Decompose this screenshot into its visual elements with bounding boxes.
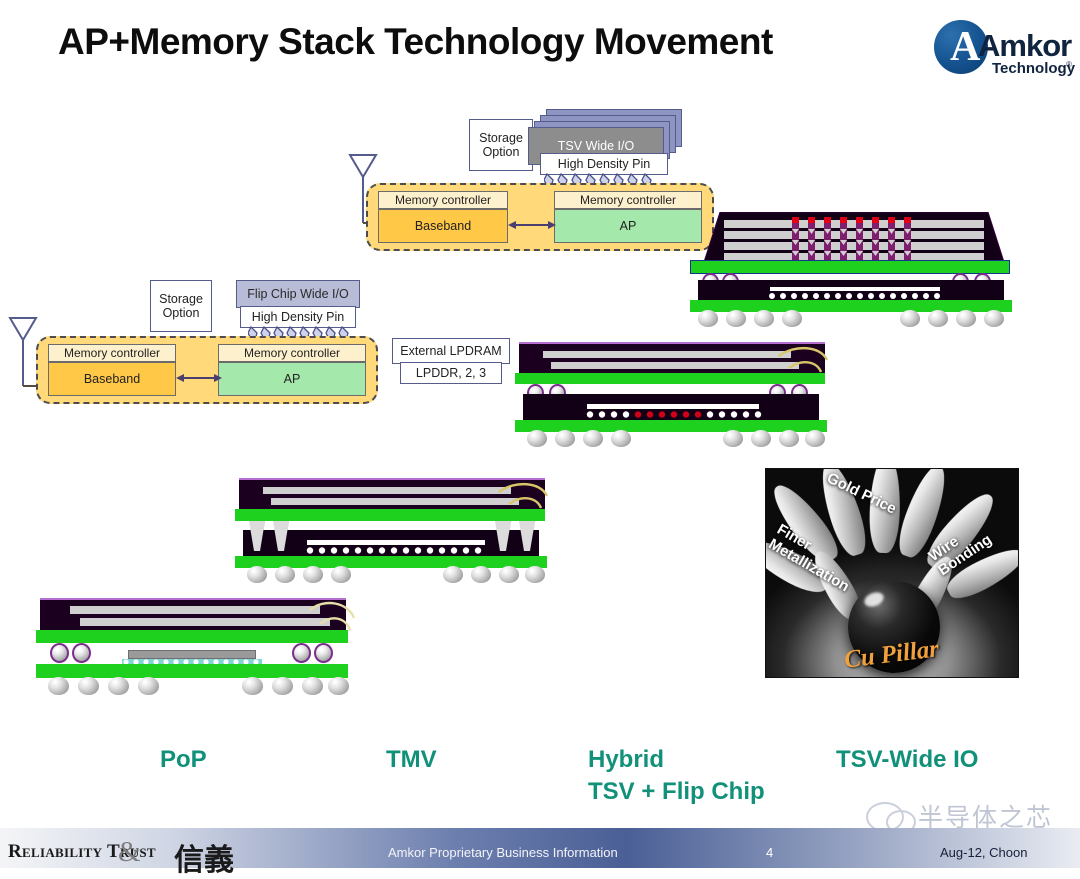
ampersand-glyph: & — [118, 836, 141, 869]
bottom-die — [770, 287, 940, 291]
ap-block-mid: AP — [218, 362, 366, 396]
bga-ball — [698, 310, 718, 327]
top-substrate — [235, 509, 545, 521]
wirebond-die-lower — [80, 618, 330, 626]
bga-ball — [754, 310, 774, 327]
top-package-substrate — [690, 260, 1010, 274]
bga-ball — [328, 677, 349, 695]
bga-ball — [900, 310, 920, 327]
flip-chip-wide-io-box: Flip Chip Wide I/O — [236, 280, 360, 308]
bga-ball — [48, 677, 69, 695]
ap-memory-controller-mid: Memory controller — [218, 344, 366, 362]
bga-ball — [779, 430, 799, 447]
pop-interconnect-ball — [292, 643, 311, 663]
bga-ball — [247, 566, 267, 583]
tmv-bump-row — [305, 546, 489, 555]
baseband-ap-link-arrow-mid — [176, 370, 222, 386]
footer-page-number: 4 — [766, 845, 773, 860]
bga-ball — [726, 310, 746, 327]
flip-chip-die — [307, 540, 485, 545]
top-substrate — [515, 373, 825, 384]
tmv-package-cross-section — [235, 478, 565, 588]
bottom-substrate — [36, 664, 348, 678]
bga-ball — [499, 566, 519, 583]
bga-ball — [525, 566, 545, 583]
high-density-pin-box-top: High Density Pin — [540, 153, 668, 175]
category-label-pop: PoP — [160, 744, 207, 776]
bga-ball — [723, 430, 743, 447]
bga-ball — [78, 677, 99, 695]
pop-package-cross-section — [36, 598, 366, 708]
footer-proprietary-notice: Amkor Proprietary Business Information — [388, 845, 618, 860]
wirebond-die-lower — [271, 498, 519, 505]
flip-chip-block-diagram: Storage Option Flip Chip Wide I/O High D… — [0, 272, 530, 432]
bga-ball — [275, 566, 295, 583]
baseband-block-top: Baseband — [378, 209, 508, 243]
flip-chip-die — [587, 404, 759, 409]
category-label-tsv-wide-io: TSV-Wide IO — [836, 744, 978, 776]
wechat-watermark: 半导体之芯 — [862, 796, 1077, 832]
storage-option-box-top: Storage Option — [469, 119, 533, 171]
bga-ball — [805, 430, 825, 447]
footer-date-author: Aug-12, Choon — [940, 845, 1027, 860]
pop-interconnect-ball — [50, 643, 69, 663]
cjk-seal-mark: 信義 — [174, 835, 234, 879]
baseband-ap-link-arrow-top — [508, 217, 556, 233]
bga-ball — [108, 677, 129, 695]
top-substrate — [36, 630, 348, 643]
bga-ball — [138, 677, 159, 695]
wirebond-die-upper — [263, 487, 511, 494]
hybrid-tsv-flipchip-package-cross-section — [515, 342, 845, 452]
bond-wire-icon — [777, 346, 833, 376]
bga-ball — [471, 566, 491, 583]
flip-chip-bump-row — [768, 292, 944, 300]
bond-wire-icon — [308, 600, 360, 632]
bga-ball — [611, 430, 631, 447]
ap-memory-controller-top: Memory controller — [554, 191, 702, 209]
bga-ball — [272, 677, 293, 695]
tsv-wide-io-package-cross-section — [690, 212, 1030, 324]
wirebond-die-lower — [551, 362, 799, 369]
high-density-pin-box-mid: High Density Pin — [240, 306, 356, 328]
amkor-logo-subtitle: Technology — [992, 60, 1075, 77]
pop-interconnect-ball — [314, 643, 333, 663]
bga-ball — [443, 566, 463, 583]
bga-ball — [984, 310, 1004, 327]
bga-ball — [303, 566, 323, 583]
bga-ball — [331, 566, 351, 583]
amkor-logo-registered: ® — [1066, 60, 1072, 69]
hybrid-bump-row — [585, 410, 765, 419]
reliability-trust-logo: Reliability Trust & 信義 — [6, 836, 276, 870]
amkor-logo-wordmark: Amkor — [978, 28, 1071, 64]
bga-ball — [782, 310, 802, 327]
category-label-hybrid: Hybrid TSV + Flip Chip — [588, 744, 765, 809]
storage-option-box-mid: Storage Option — [150, 280, 212, 332]
cu-pillar-photo: Gold Price Finer Metallization Wire Bond… — [765, 468, 1019, 678]
bga-ball — [956, 310, 976, 327]
external-lpdram-box: External LPDRAM — [392, 338, 510, 364]
tsv-microbump-columns — [790, 217, 920, 263]
wirebond-die-upper — [543, 351, 791, 358]
wirebond-die-upper — [70, 606, 320, 614]
baseband-memory-controller-mid: Memory controller — [48, 344, 176, 362]
bga-ball — [583, 430, 603, 447]
bga-ball — [928, 310, 948, 327]
external-lpdram-sub-box: LPDDR, 2, 3 — [400, 362, 502, 384]
bga-ball — [527, 430, 547, 447]
amkor-logo: A Amkor Technology ® — [930, 12, 1070, 88]
category-label-tmv: TMV — [386, 744, 437, 776]
baseband-memory-controller-top: Memory controller — [378, 191, 508, 209]
bga-ball — [555, 430, 575, 447]
bga-ball — [302, 677, 323, 695]
ap-block-top: AP — [554, 209, 702, 243]
pop-interconnect-ball — [72, 643, 91, 663]
bond-wire-icon — [497, 482, 553, 512]
page-title: AP+Memory Stack Technology Movement — [58, 22, 858, 63]
antenna-icon-2 — [6, 316, 40, 394]
bga-ball — [751, 430, 771, 447]
tsv-wide-io-block-diagram: Storage Option TSV Wide I/O High Density… — [340, 105, 720, 255]
baseband-block-mid: Baseband — [48, 362, 176, 396]
bga-ball — [242, 677, 263, 695]
amkor-logo-a-icon: A — [950, 26, 980, 68]
